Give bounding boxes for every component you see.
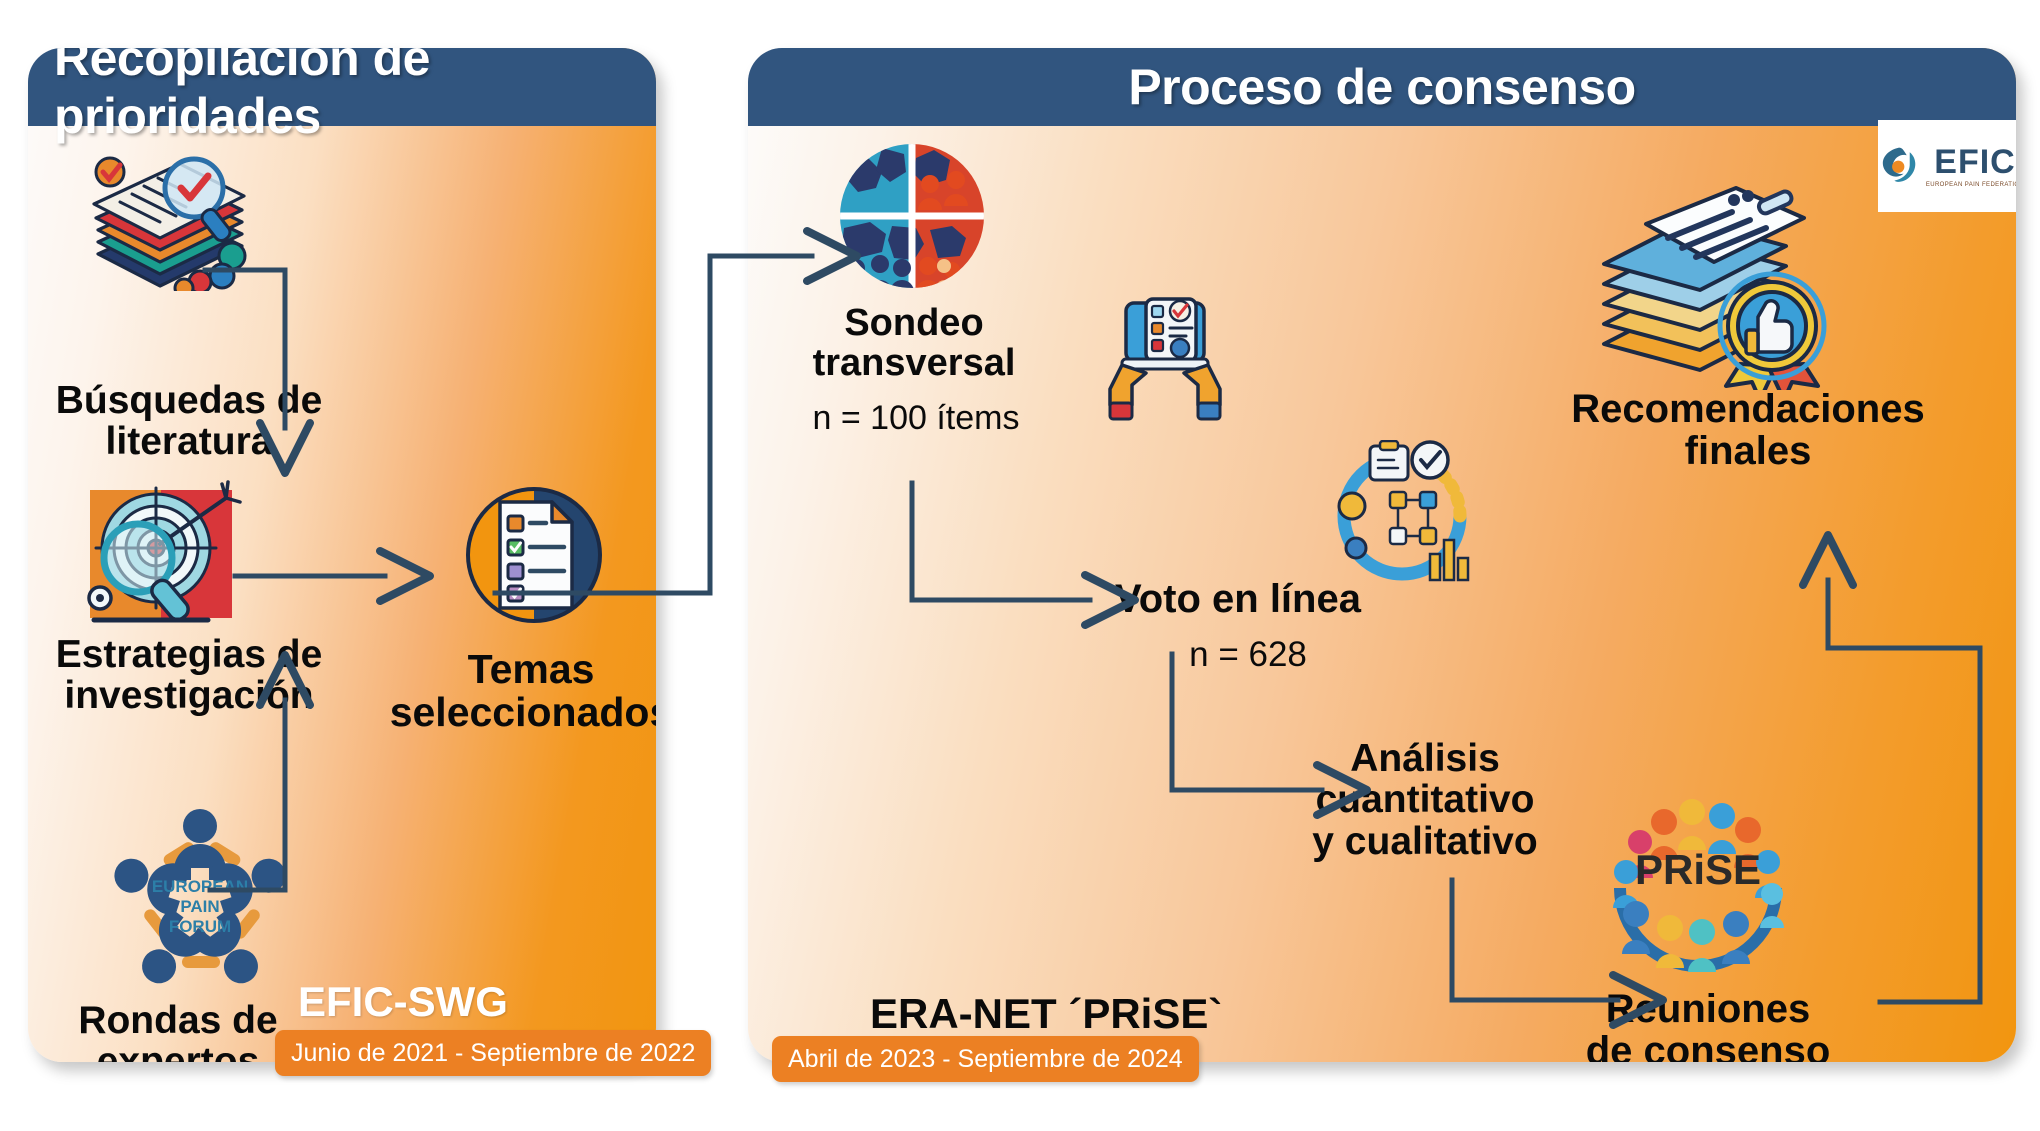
efic-logo: EFIC EUROPEAN PAIN FEDERATION [1878,120,2016,212]
data-analysis-icon [1326,440,1478,592]
node-label-busquedas: Búsquedas de literatura [28,380,350,463]
program-tag-era-net-prise: ERA-NET ´PRiSE` [870,990,1222,1038]
layered-documents-magnifier-icon [80,146,265,291]
panel-recopilacion-de-prioridades: Recopilación de prioridades [28,48,656,1062]
node-label-analisis: Análisis cuantitativo y cualitativo [1260,738,1590,862]
panel-left-header: Recopilación de prioridades [28,48,656,126]
date-chip-efic-swg: Junio de 2021 - Septiembre de 2022 [275,1030,711,1076]
document-stack-award-icon [1590,158,1848,390]
node-label-reuniones: Reuniones de consenso [1508,988,1908,1062]
infographic-canvas: Recopilación de prioridades [0,0,2040,1131]
node-label-recomendaciones: Recomendaciones finales [1488,388,2008,473]
european-pain-forum-icon: EUROPEAN PAIN FORUM [90,800,310,995]
epf-line-3: FORUM [169,917,231,936]
hands-tablet-vote-icon [1100,293,1230,423]
prise-wordmark: PRiSE [1635,846,1761,893]
node-sublabel-sondeo: n = 100 ítems [796,400,1036,437]
node-label-estrategias: Estrategias de investigación [28,634,350,717]
date-chip-era-net-prise: Abril de 2023 - Septiembre de 2024 [772,1036,1199,1082]
efic-subtitle: EUROPEAN PAIN FEDERATION [1926,182,2016,188]
globe-survey-icon [838,142,986,290]
efic-wordmark: EFIC [1934,145,2015,179]
efic-swirl-icon [1876,143,1922,189]
target-magnifier-icon [76,480,254,630]
panel-right-header: Proceso de consenso [748,48,2016,126]
panel-left-header-title: Recopilación de prioridades [54,48,656,145]
node-sublabel-voto: n = 628 [1078,636,1418,675]
prise-people-circle-icon: PRiSE [1606,796,1791,981]
program-tag-efic-swg: EFIC-SWG [298,978,508,1026]
epf-line-2: PAIN [180,897,219,916]
node-label-temas: Temas seleccionados [366,648,656,735]
panel-proceso-de-consenso: Proceso de consenso [748,48,2016,1062]
checklist-circle-icon [460,480,608,630]
node-label-sondeo: Sondeo transversal [808,303,1020,384]
panel-right-header-title: Proceso de consenso [1128,58,1635,116]
epf-line-1: EUROPEAN [152,877,248,896]
